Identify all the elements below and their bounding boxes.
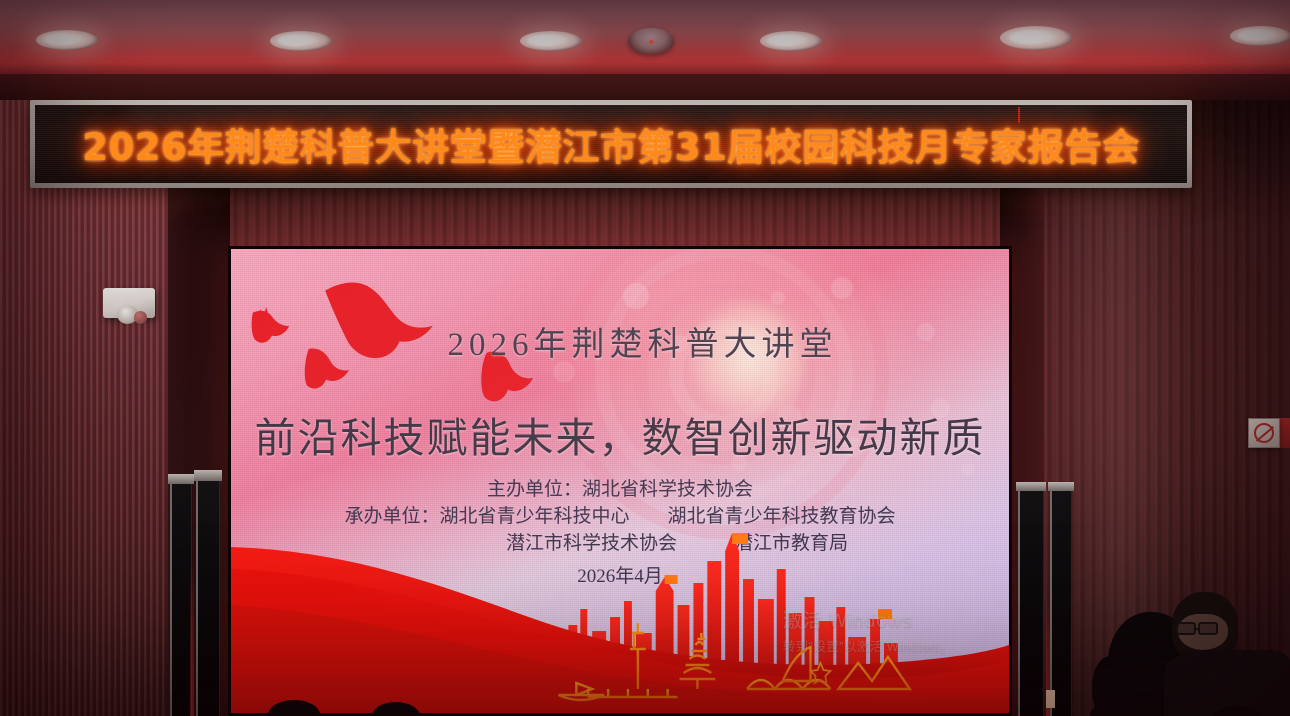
ceiling-downlight-1 (36, 30, 98, 50)
conference-hall-photo: 2026年荆楚科普大讲堂暨潜江市第31届校园科技月专家报告会 (0, 0, 1290, 716)
ceiling-downlight-6 (1230, 26, 1290, 46)
ceiling-downlight-5 (1000, 26, 1072, 50)
ceiling-edge-beam (0, 74, 1290, 100)
stage-led-screen: 2026年荆楚科普大讲堂 前沿科技赋能未来，数智创新驱动新质 主办单位：湖北省科… (231, 249, 1009, 713)
speaker-cap-left-a (168, 474, 194, 484)
led-banner: 2026年荆楚科普大讲堂暨潜江市第31届校园科技月专家报告会 (30, 100, 1192, 188)
screen-subtitle: 前沿科技赋能未来，数智创新驱动新质 (231, 404, 1009, 464)
ceiling-downlight-4 (760, 31, 822, 51)
ceiling-downlight-3 (520, 31, 582, 51)
wall-panel-left-slats (0, 96, 170, 716)
no-smoking-icon (1254, 423, 1274, 443)
speaker-edge-glow-left (190, 560, 194, 716)
stage-led-screen-frame: 2026年荆楚科普大讲堂 前沿科技赋能未来，数智创新驱动新质 主办单位：湖北省科… (228, 246, 1012, 716)
led-banner-screen: 2026年荆楚科普大讲堂暨潜江市第31届校园科技月专家报告会 (35, 105, 1187, 183)
line-array-speaker-left-a (170, 480, 192, 716)
smoke-detector (628, 28, 674, 54)
led-banner-text: 2026年荆楚科普大讲堂暨潜江市第31届校园科技月专家报告会 (82, 117, 1139, 171)
no-smoking-sign (1248, 418, 1280, 448)
line-array-speaker-right-b (1050, 486, 1072, 716)
attendee-glasses-suit (1164, 592, 1290, 716)
eyeglasses-icon (1176, 622, 1196, 635)
line-array-speaker-right-a (1018, 486, 1044, 716)
speaker-cap-right-a (1016, 482, 1046, 491)
speaker-cap-right-b (1048, 482, 1074, 491)
line-array-speaker-left-b (196, 476, 220, 716)
camera-mount-knob (134, 311, 147, 324)
ceiling-downlight-2 (270, 31, 332, 51)
organizer-line-1: 主办单位：湖北省科学技术协会 (231, 477, 1009, 504)
red-wave-skyline-graphic (231, 513, 1009, 713)
speaker-label-tag (1046, 690, 1055, 708)
wall-mounted-camera (103, 288, 155, 320)
speaker-cap-left-b (194, 470, 222, 481)
screen-title: 2026年荆楚科普大讲堂 (231, 317, 1009, 365)
no-smoking-sign-tab (1280, 418, 1290, 448)
